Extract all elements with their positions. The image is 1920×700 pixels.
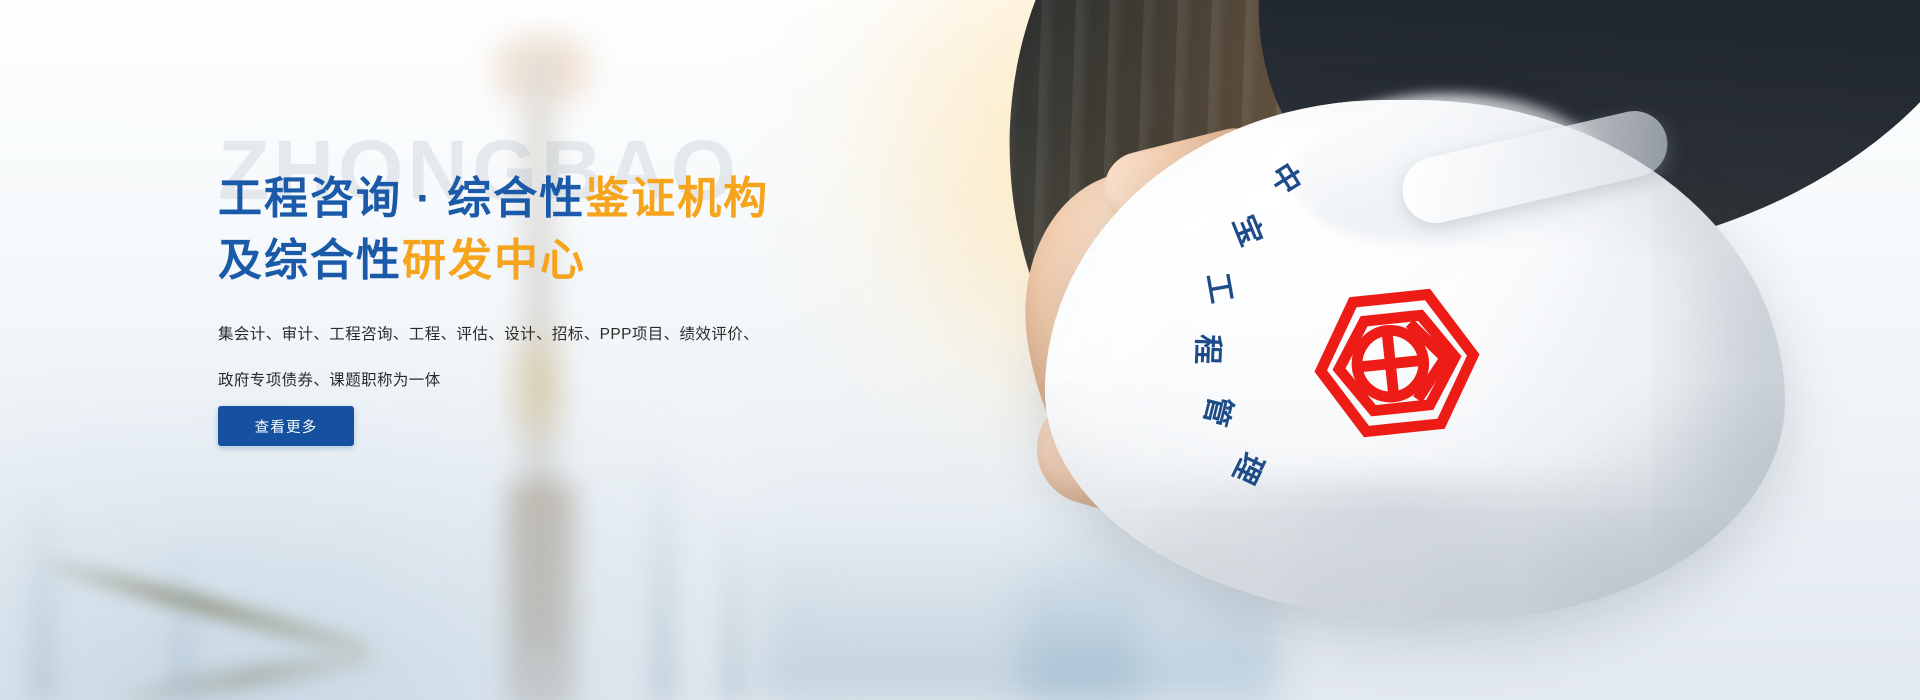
description-line-2: 政府专项债券、课题职称为一体 xyxy=(218,358,858,404)
headline: 工程咨询 · 综合性鉴证机构 及综合性研发中心 xyxy=(218,168,769,292)
headline-line-1-orange: 鉴证机构 xyxy=(585,174,769,223)
headline-line-2-orange: 研发中心 xyxy=(402,236,586,285)
headline-line-2-blue: 及综合性 xyxy=(218,236,402,285)
helmet-char-0: 中 xyxy=(1262,153,1316,203)
safety-helmet: 中 宝 工 程 管 理 xyxy=(1045,100,1785,620)
view-more-button[interactable]: 查看更多 xyxy=(218,406,354,446)
helmet-char-2: 工 xyxy=(1198,269,1247,307)
hero-content: ZHONGBAO 工程咨询 · 综合性鉴证机构 及综合性研发中心 集会计、审计、… xyxy=(218,0,918,700)
helmet-brand-text: 中 宝 工 程 管 理 xyxy=(1123,150,1443,550)
hero-banner: 中 宝 工 程 管 理 ZHONGBAO 工程咨询 · 综合性鉴证机构 及综合性… xyxy=(0,0,1920,700)
description: 集会计、审计、工程咨询、工程、评估、设计、招标、PPP项目、绩效评价、 政府专项… xyxy=(218,312,858,404)
headline-line-2: 及综合性研发中心 xyxy=(218,230,769,292)
headline-line-1: 工程咨询 · 综合性鉴证机构 xyxy=(218,168,769,230)
helmet-char-5: 理 xyxy=(1224,446,1277,493)
headline-line-1-blue: 工程咨询 · 综合性 xyxy=(218,174,585,223)
pale-1 xyxy=(30,490,56,700)
description-line-1: 集会计、审计、工程咨询、工程、评估、设计、招标、PPP项目、绩效评价、 xyxy=(218,312,858,358)
helmet-char-4: 管 xyxy=(1195,392,1245,433)
helmet-char-3: 程 xyxy=(1188,334,1233,367)
pale-2 xyxy=(170,540,196,700)
helmet-char-1: 宝 xyxy=(1224,207,1276,252)
